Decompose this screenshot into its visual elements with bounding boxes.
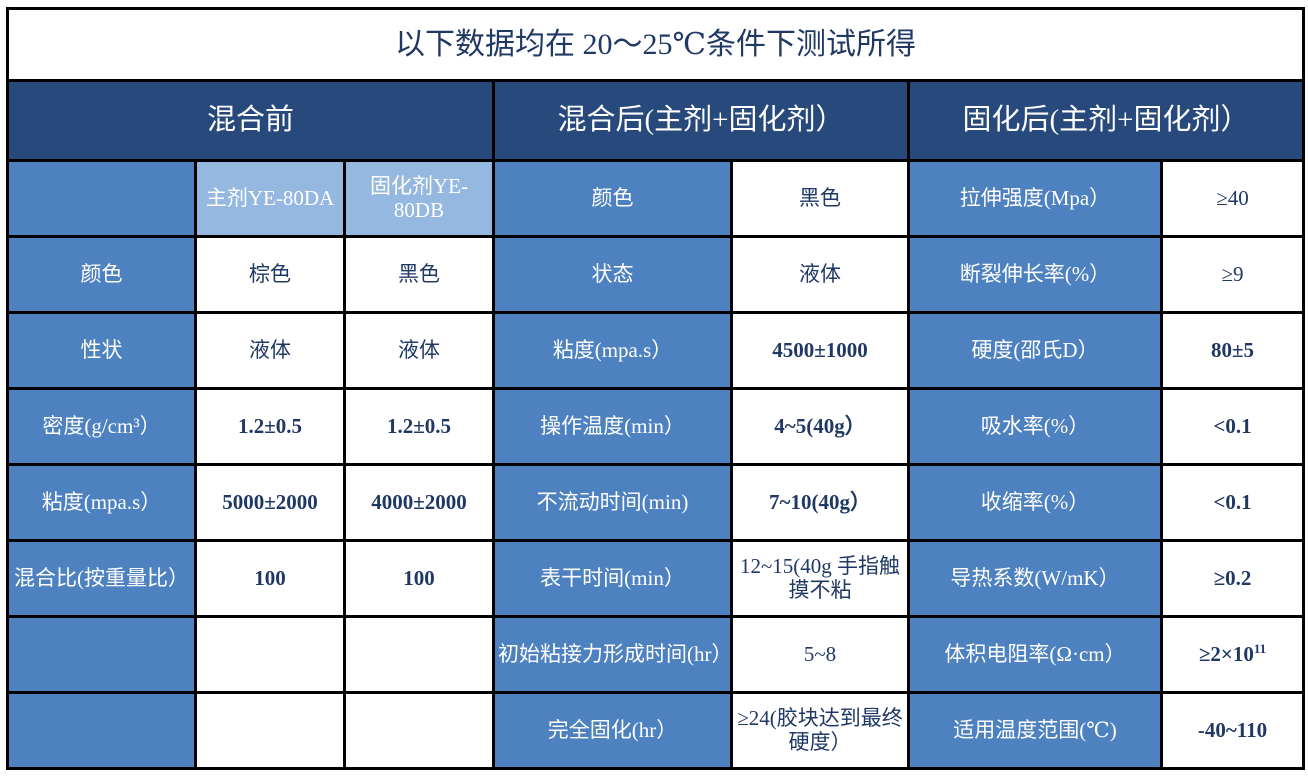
group-header-after-mixing: 混合后(主剂+固化剂） bbox=[494, 81, 909, 161]
cell-before-label-3: 密度(g/cm³） bbox=[8, 389, 196, 465]
group-header-after-curing: 固化后(主剂+固化剂） bbox=[909, 81, 1304, 161]
cell-before-label-5: 混合比(按重量比） bbox=[8, 541, 196, 617]
cell-aftermix-value-6: 5~8 bbox=[732, 617, 909, 693]
cell-before-partb-4: 4000±2000 bbox=[345, 465, 494, 541]
cell-aftermix-value-4: 7~10(40g） bbox=[732, 465, 909, 541]
cell-aftermix-label-1: 状态 bbox=[494, 237, 732, 313]
table-row: 主剂YE-80DA 固化剂YE-80DB 颜色 黑色 拉伸强度(Mpa） ≥40 bbox=[8, 161, 1304, 237]
cell-before-parta-7 bbox=[196, 693, 345, 769]
cell-before-parta-6 bbox=[196, 617, 345, 693]
cell-aftercure-value-6: ≥2×1011 bbox=[1162, 617, 1304, 693]
cell-before-label-empty-0 bbox=[8, 161, 196, 237]
table-row: 密度(g/cm³） 1.2±0.5 1.2±0.5 操作温度(min） 4~5(… bbox=[8, 389, 1304, 465]
cell-before-parta-4: 5000±2000 bbox=[196, 465, 345, 541]
cell-before-parta-1: 棕色 bbox=[196, 237, 345, 313]
group-header-before-mixing: 混合前 bbox=[8, 81, 494, 161]
cell-before-label-2: 性状 bbox=[8, 313, 196, 389]
cell-subheader-part-a: 主剂YE-80DA bbox=[196, 161, 345, 237]
cell-aftercure-label-5: 导热系数(W/mK） bbox=[909, 541, 1162, 617]
cell-aftermix-value-5: 12~15(40g 手指触摸不粘 bbox=[732, 541, 909, 617]
table-row: 性状 液体 液体 粘度(mpa.s） 4500±1000 硬度(邵氏D） 80±… bbox=[8, 313, 1304, 389]
cell-aftercure-value-5: ≥0.2 bbox=[1162, 541, 1304, 617]
resistivity-exponent: 11 bbox=[1254, 641, 1266, 656]
cell-aftercure-value-1: ≥9 bbox=[1162, 237, 1304, 313]
table-title-row: 以下数据均在 20～25℃条件下测试所得 bbox=[8, 9, 1304, 81]
product-specification-table: 以下数据均在 20～25℃条件下测试所得 混合前 混合后(主剂+固化剂） 固化后… bbox=[6, 7, 1305, 770]
cell-aftermix-value-3: 4~5(40g） bbox=[732, 389, 909, 465]
cell-aftermix-value-0: 黑色 bbox=[732, 161, 909, 237]
cell-subheader-part-b: 固化剂YE-80DB bbox=[345, 161, 494, 237]
cell-aftercure-label-4: 收缩率(%） bbox=[909, 465, 1162, 541]
cell-aftercure-label-1: 断裂伸长率(%） bbox=[909, 237, 1162, 313]
cell-before-partb-7 bbox=[345, 693, 494, 769]
table-row: 颜色 棕色 黑色 状态 液体 断裂伸长率(%） ≥9 bbox=[8, 237, 1304, 313]
resistivity-base: ≥2×10 bbox=[1199, 642, 1254, 666]
cell-aftercure-value-0: ≥40 bbox=[1162, 161, 1304, 237]
cell-before-parta-3: 1.2±0.5 bbox=[196, 389, 345, 465]
cell-aftermix-label-2: 粘度(mpa.s） bbox=[494, 313, 732, 389]
table-row: 完全固化(hr） ≥24(胶块达到最终硬度） 适用温度范围(℃) -40~110 bbox=[8, 693, 1304, 769]
cell-before-parta-2: 液体 bbox=[196, 313, 345, 389]
cell-aftermix-label-3: 操作温度(min） bbox=[494, 389, 732, 465]
cell-before-partb-3: 1.2±0.5 bbox=[345, 389, 494, 465]
table-row: 混合比(按重量比） 100 100 表干时间(min） 12~15(40g 手指… bbox=[8, 541, 1304, 617]
table-row: 初始粘接力形成时间(hr） 5~8 体积电阻率(Ω·cm） ≥2×1011 bbox=[8, 617, 1304, 693]
table-row: 粘度(mpa.s） 5000±2000 4000±2000 不流动时间(min)… bbox=[8, 465, 1304, 541]
cell-aftermix-label-6: 初始粘接力形成时间(hr） bbox=[494, 617, 732, 693]
cell-aftermix-label-7: 完全固化(hr） bbox=[494, 693, 732, 769]
cell-before-parta-5: 100 bbox=[196, 541, 345, 617]
cell-aftermix-value-7: ≥24(胶块达到最终硬度） bbox=[732, 693, 909, 769]
cell-aftercure-label-0: 拉伸强度(Mpa） bbox=[909, 161, 1162, 237]
cell-aftercure-value-4: <0.1 bbox=[1162, 465, 1304, 541]
cell-before-partb-2: 液体 bbox=[345, 313, 494, 389]
cell-before-label-7 bbox=[8, 693, 196, 769]
cell-aftercure-value-2: 80±5 bbox=[1162, 313, 1304, 389]
cell-aftermix-value-1: 液体 bbox=[732, 237, 909, 313]
cell-aftermix-label-5: 表干时间(min） bbox=[494, 541, 732, 617]
cell-before-label-4: 粘度(mpa.s） bbox=[8, 465, 196, 541]
cell-aftercure-value-7: -40~110 bbox=[1162, 693, 1304, 769]
cell-aftermix-label-4: 不流动时间(min) bbox=[494, 465, 732, 541]
page-title: 以下数据均在 20～25℃条件下测试所得 bbox=[8, 9, 1304, 81]
cell-before-label-6 bbox=[8, 617, 196, 693]
cell-aftercure-label-2: 硬度(邵氏D） bbox=[909, 313, 1162, 389]
cell-aftermix-label-0: 颜色 bbox=[494, 161, 732, 237]
cell-aftermix-value-2: 4500±1000 bbox=[732, 313, 909, 389]
cell-aftercure-label-3: 吸水率(%） bbox=[909, 389, 1162, 465]
cell-aftercure-value-3: <0.1 bbox=[1162, 389, 1304, 465]
cell-aftercure-label-7: 适用温度范围(℃) bbox=[909, 693, 1162, 769]
cell-before-partb-5: 100 bbox=[345, 541, 494, 617]
cell-aftercure-label-6: 体积电阻率(Ω·cm） bbox=[909, 617, 1162, 693]
cell-before-label-1: 颜色 bbox=[8, 237, 196, 313]
group-header-row: 混合前 混合后(主剂+固化剂） 固化后(主剂+固化剂） bbox=[8, 81, 1304, 161]
cell-before-partb-1: 黑色 bbox=[345, 237, 494, 313]
cell-before-partb-6 bbox=[345, 617, 494, 693]
